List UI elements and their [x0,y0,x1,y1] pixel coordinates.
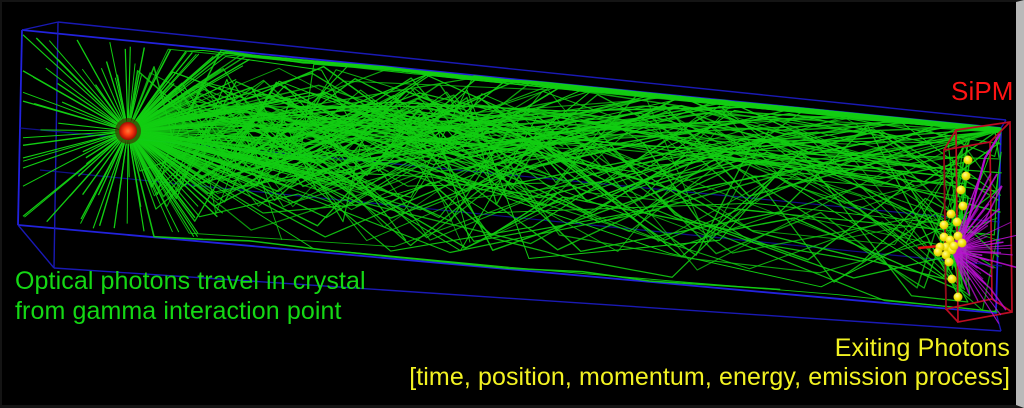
photon-hit-dot [940,221,949,230]
photon-hit-dot [948,275,957,284]
crystal-annotation-line1: Optical photons travel in crystal [15,266,366,296]
crystal-annotation-line2: from gamma interaction point [15,296,366,326]
gamma-interaction-point [115,118,141,144]
photon-hit-dot [947,210,956,219]
photon-hit-dot [957,186,966,195]
photon-hit-dot [964,156,973,165]
photon-hit-dot [958,239,967,248]
photon-hit-dot [959,202,968,211]
photon-hit-dot [950,242,959,251]
photon-hit-dot [962,172,971,181]
sipm-label: SiPM [951,77,1014,105]
photon-hit-dot [953,218,962,227]
photon-hit-dot [954,293,963,302]
exiting-photons-label: Exiting Photons [835,334,1010,363]
photon-hit-dot [934,248,943,257]
crystal-annotation: Optical photons travel in crystal from g… [15,266,366,326]
visualization-canvas: Optical photons travel in crystal from g… [0,0,1024,408]
photon-hit-dot [945,258,954,267]
exiting-photons-properties: [time, position, momentum, energy, emiss… [409,363,1010,392]
